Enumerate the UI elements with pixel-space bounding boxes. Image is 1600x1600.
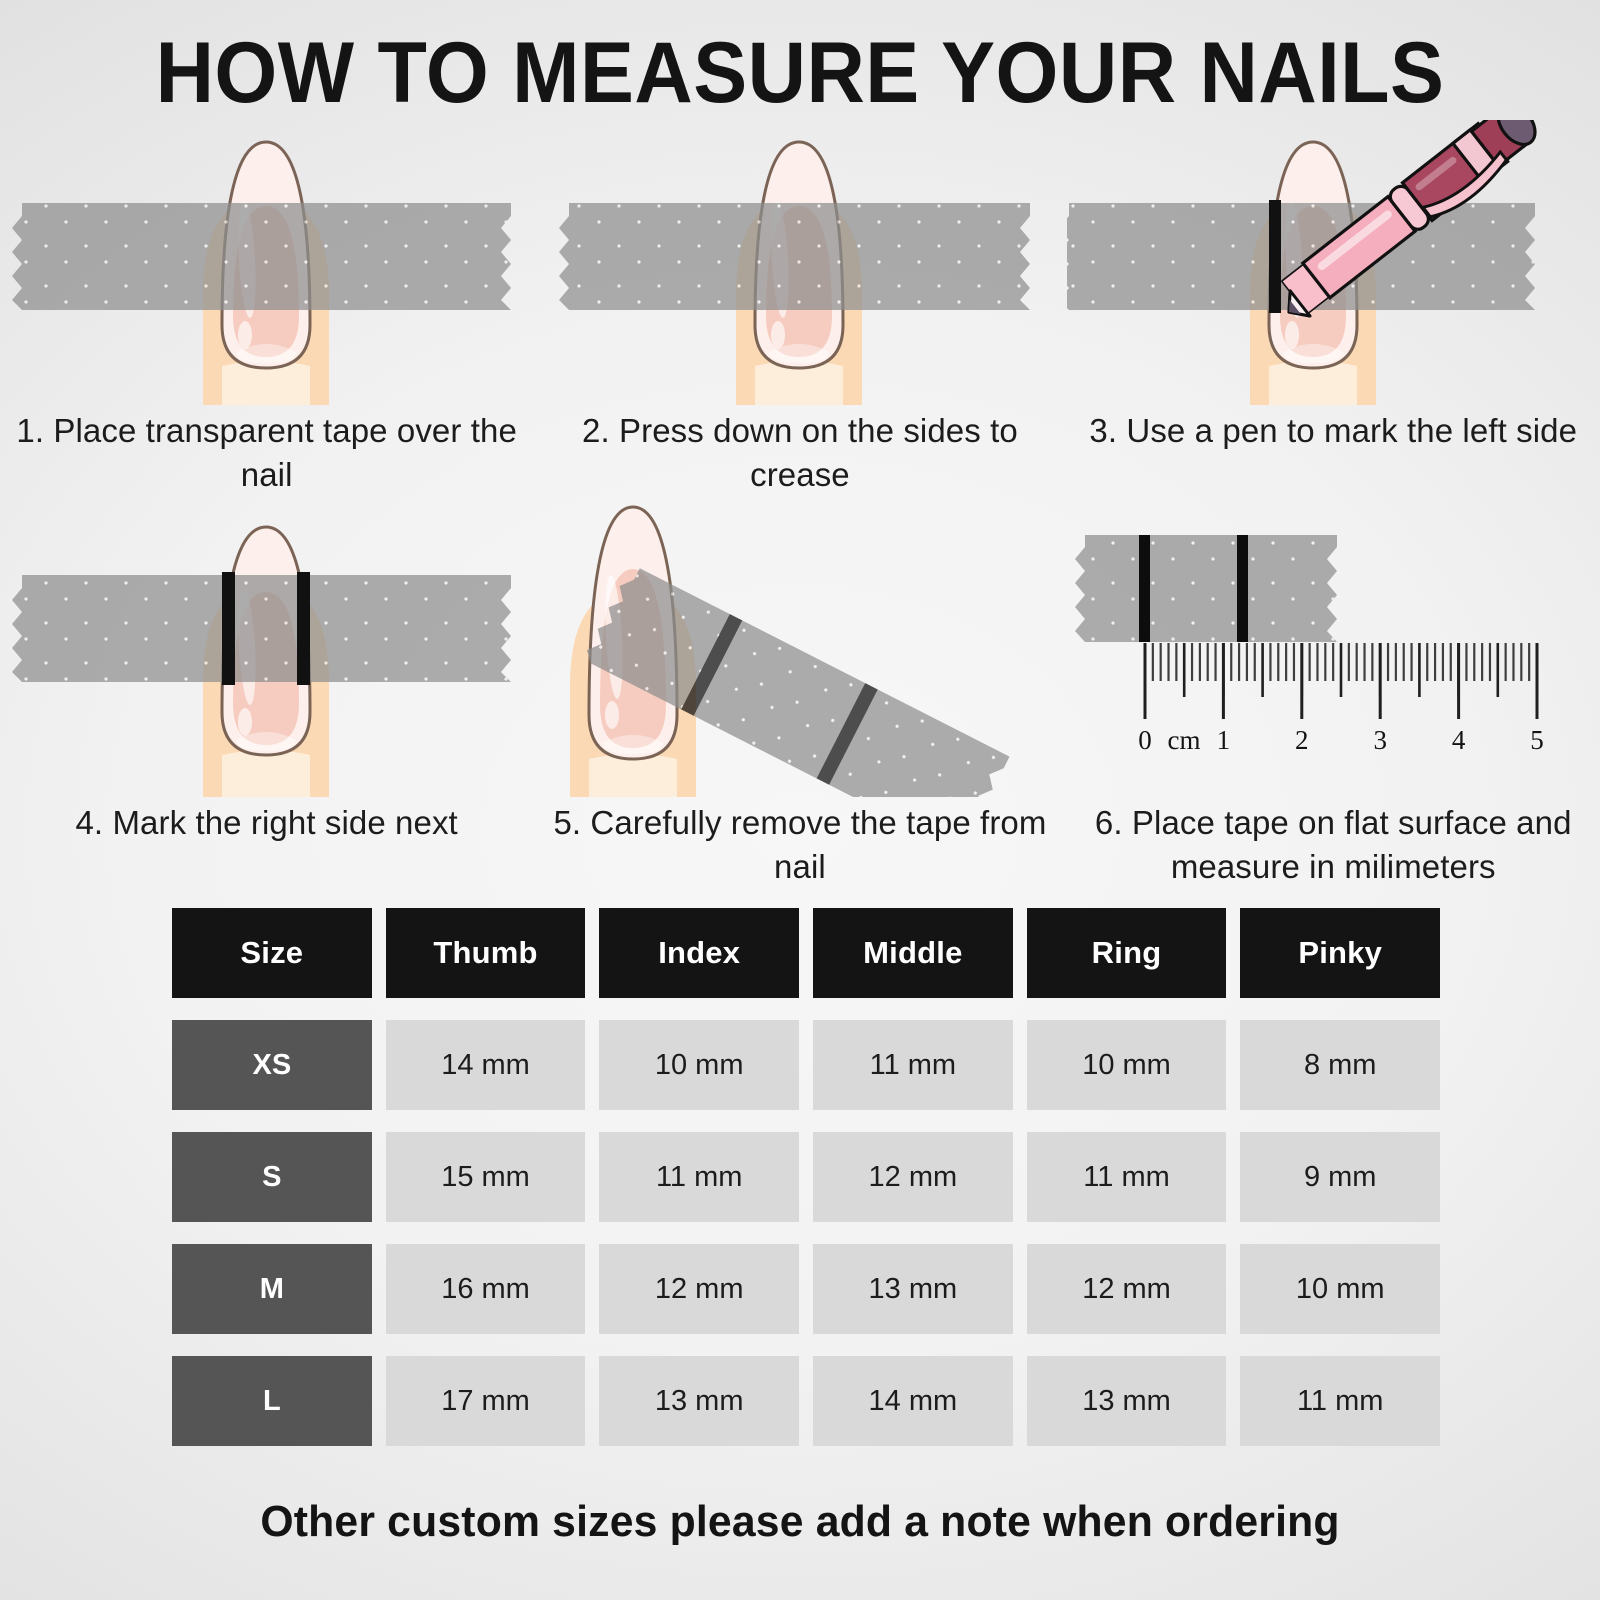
cell-s-ring: 11 mm bbox=[1027, 1132, 1227, 1222]
column-header-index: Index bbox=[599, 908, 799, 998]
tape-on-ruler-illustration: 0 cm 1 2 3 4 5 bbox=[1067, 497, 1600, 797]
ruler-label-0: 0 bbox=[1138, 725, 1152, 755]
left-mark bbox=[1139, 535, 1150, 642]
step-4-caption: 4. Mark the right side next bbox=[0, 801, 533, 845]
step-5-caption: 5. Carefully remove the tape from nail bbox=[533, 801, 1066, 889]
ruler-label-3: 3 bbox=[1373, 725, 1387, 755]
table-row: S 15 mm 11 mm 12 mm 11 mm 9 mm bbox=[172, 1132, 1440, 1222]
cell-m-pinky: 10 mm bbox=[1240, 1244, 1440, 1334]
step-2-caption: 2. Press down on the sides to crease bbox=[533, 409, 1066, 497]
cell-m-thumb: 16 mm bbox=[386, 1244, 586, 1334]
cell-s-middle: 12 mm bbox=[813, 1132, 1013, 1222]
step-4: 4. Mark the right side next bbox=[0, 497, 533, 889]
cell-s-thumb: 15 mm bbox=[386, 1132, 586, 1222]
left-mark bbox=[222, 572, 235, 685]
measured-tape bbox=[1075, 535, 1337, 642]
steps-grid: 1. Place transparent tape over the nail bbox=[0, 120, 1600, 889]
size-label-l: L bbox=[172, 1356, 372, 1446]
steps-row-2: 4. Mark the right side next bbox=[0, 497, 1600, 889]
right-mark bbox=[1237, 535, 1248, 642]
cell-s-index: 11 mm bbox=[599, 1132, 799, 1222]
cell-m-middle: 13 mm bbox=[813, 1244, 1013, 1334]
step-5: 5. Carefully remove the tape from nail bbox=[533, 497, 1066, 889]
table-row: XS 14 mm 10 mm 11 mm 10 mm 8 mm bbox=[172, 1020, 1440, 1110]
cell-xs-thumb: 14 mm bbox=[386, 1020, 586, 1110]
ruler-label-5: 5 bbox=[1530, 725, 1544, 755]
nail-with-creased-tape-illustration bbox=[533, 120, 1066, 405]
cell-m-index: 12 mm bbox=[599, 1244, 799, 1334]
cell-xs-middle: 11 mm bbox=[813, 1020, 1013, 1110]
table-header-row: Size Thumb Index Middle Ring Pinky bbox=[172, 908, 1440, 998]
ruler-label-4: 4 bbox=[1451, 725, 1465, 755]
step-1: 1. Place transparent tape over the nail bbox=[0, 120, 533, 497]
column-header-size: Size bbox=[172, 908, 372, 998]
ruler-ticks bbox=[1145, 643, 1537, 719]
size-label-m: M bbox=[172, 1244, 372, 1334]
footer-note: Other custom sizes please add a note whe… bbox=[24, 1497, 1576, 1547]
cell-l-ring: 13 mm bbox=[1027, 1356, 1227, 1446]
nail-tape-peeled-off-illustration bbox=[533, 497, 1066, 797]
step-2: 2. Press down on the sides to crease bbox=[533, 120, 1066, 497]
right-mark bbox=[297, 572, 310, 685]
step-6-caption: 6. Place tape on flat surface and measur… bbox=[1067, 801, 1600, 889]
left-mark bbox=[1269, 200, 1281, 313]
cell-l-pinky: 11 mm bbox=[1240, 1356, 1440, 1446]
size-chart-table: Size Thumb Index Middle Ring Pinky XS 14… bbox=[172, 908, 1440, 1468]
column-header-ring: Ring bbox=[1027, 908, 1227, 998]
step-1-caption: 1. Place transparent tape over the nail bbox=[0, 409, 533, 497]
steps-row-1: 1. Place transparent tape over the nail bbox=[0, 120, 1600, 497]
column-header-pinky: Pinky bbox=[1240, 908, 1440, 998]
cell-xs-ring: 10 mm bbox=[1027, 1020, 1227, 1110]
table-row: L 17 mm 13 mm 14 mm 13 mm 11 mm bbox=[172, 1356, 1440, 1446]
table-row: M 16 mm 12 mm 13 mm 12 mm 10 mm bbox=[172, 1244, 1440, 1334]
ruler-label-2: 2 bbox=[1295, 725, 1309, 755]
ruler-label-1: 1 bbox=[1216, 725, 1230, 755]
column-header-thumb: Thumb bbox=[386, 908, 586, 998]
cell-l-thumb: 17 mm bbox=[386, 1356, 586, 1446]
cell-s-pinky: 9 mm bbox=[1240, 1132, 1440, 1222]
cell-l-middle: 14 mm bbox=[813, 1356, 1013, 1446]
step-3-caption: 3. Use a pen to mark the left side bbox=[1067, 409, 1600, 453]
step-3: 3. Use a pen to mark the left side bbox=[1067, 120, 1600, 497]
size-label-s: S bbox=[172, 1132, 372, 1222]
nail-with-both-marks-illustration bbox=[0, 497, 533, 797]
infographic-root: HOW TO MEASURE YOUR NAILS bbox=[0, 0, 1600, 1600]
page-title: HOW TO MEASURE YOUR NAILS bbox=[48, 26, 1552, 121]
cell-m-ring: 12 mm bbox=[1027, 1244, 1227, 1334]
ruler-unit-label: cm bbox=[1167, 725, 1200, 755]
nail-with-tape-illustration bbox=[0, 120, 533, 405]
cell-xs-pinky: 8 mm bbox=[1240, 1020, 1440, 1110]
size-label-xs: XS bbox=[172, 1020, 372, 1110]
nail-with-pen-left-mark-illustration bbox=[1067, 120, 1600, 405]
ruler-labels: 0 cm 1 2 3 4 5 bbox=[1138, 725, 1544, 755]
column-header-middle: Middle bbox=[813, 908, 1013, 998]
cell-l-index: 13 mm bbox=[599, 1356, 799, 1446]
step-6: 0 cm 1 2 3 4 5 6. Place tape on flat sur… bbox=[1067, 497, 1600, 889]
cell-xs-index: 10 mm bbox=[599, 1020, 799, 1110]
